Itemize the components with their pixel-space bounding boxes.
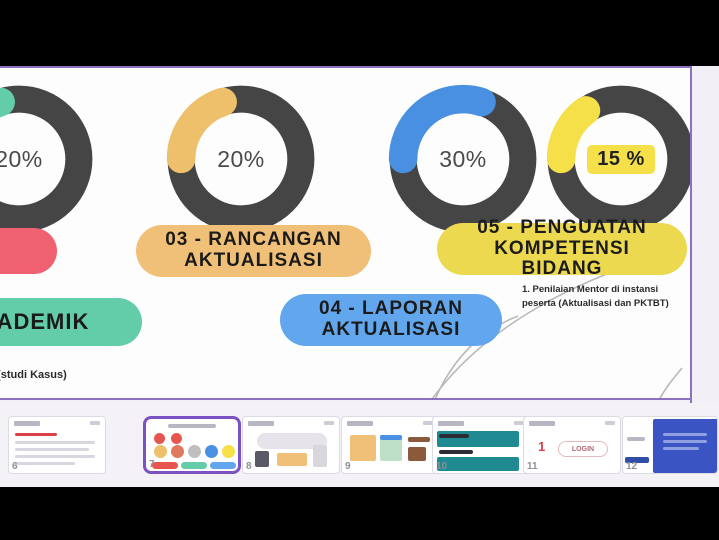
thumbnail-slide-9[interactable]: 9 (341, 416, 439, 474)
donut-value-03: 30% (439, 146, 487, 173)
slide-right-border (690, 66, 692, 403)
donut-chart-03: 30% (384, 80, 542, 238)
thumbnail-number: 12 (626, 461, 637, 472)
penguatan-note: 1. Penilaian Mentor di instansi peserta … (522, 283, 682, 312)
badge-01-pku[interactable]: KU (0, 228, 57, 274)
donut-chart-02: 20% (162, 80, 320, 238)
slide-canvas[interactable]: 20% 20% 30% (0, 66, 692, 400)
badge-03-rancangan-aktualisasi[interactable]: 03 - RANCANGAN AKTUALISASI (136, 225, 371, 277)
donut-value-04: 15 % (587, 145, 655, 174)
thumbnail-number: 8 (246, 461, 252, 472)
donut-chart-01: 20% (0, 80, 98, 238)
thumbnail-11-number-badge: 1 (538, 439, 545, 454)
akademik-bullet-list: v Akademik MOOC v Akademik e-Learning (s… (0, 352, 154, 384)
thumbnail-slide-10[interactable]: 10 (432, 416, 530, 474)
thumbnail-number: 7 (149, 459, 155, 470)
donut-center-02: 20% (162, 80, 320, 238)
screen-capture: 20% 20% 30% (0, 0, 719, 540)
thumbnail-11-login-button: LOGIN (558, 441, 608, 457)
badge-02-akademik[interactable]: 02 - AKADEMIK (0, 298, 142, 346)
donut-center-03: 30% (384, 80, 542, 238)
thumbnail-slide-6[interactable]: 6 (8, 416, 106, 474)
thumbnail-number: 11 (527, 461, 538, 472)
letterbox-bottom (0, 487, 719, 540)
thumbnail-number: 10 (436, 461, 447, 472)
slide-thumbnail-filmstrip[interactable]: 6 7 8 (0, 403, 719, 487)
letterbox-top (0, 0, 719, 66)
thumbnail-slide-11[interactable]: 1 LOGIN 11 (523, 416, 621, 474)
thumbnail-slide-8[interactable]: 8 (242, 416, 340, 474)
donut-value-01: 20% (0, 146, 43, 173)
badge-05-penguatan-kompetensi-bidang[interactable]: 05 - PENGUATAN KOMPETENSI BIDANG (437, 223, 687, 275)
donut-center-04: 15 % (542, 80, 692, 238)
thumbnail-slide-7[interactable]: 7 (143, 416, 241, 474)
badge-04-laporan-aktualisasi[interactable]: 04 - LAPORAN AKTUALISASI (280, 294, 502, 346)
thumbnail-number: 6 (12, 461, 18, 472)
thumbnail-number: 9 (345, 461, 351, 472)
donut-value-02: 20% (217, 146, 265, 173)
thumbnail-slide-12[interactable]: 12 (622, 416, 718, 474)
donut-center-01: 20% (0, 80, 98, 238)
donut-chart-04: 15 % (542, 80, 692, 238)
